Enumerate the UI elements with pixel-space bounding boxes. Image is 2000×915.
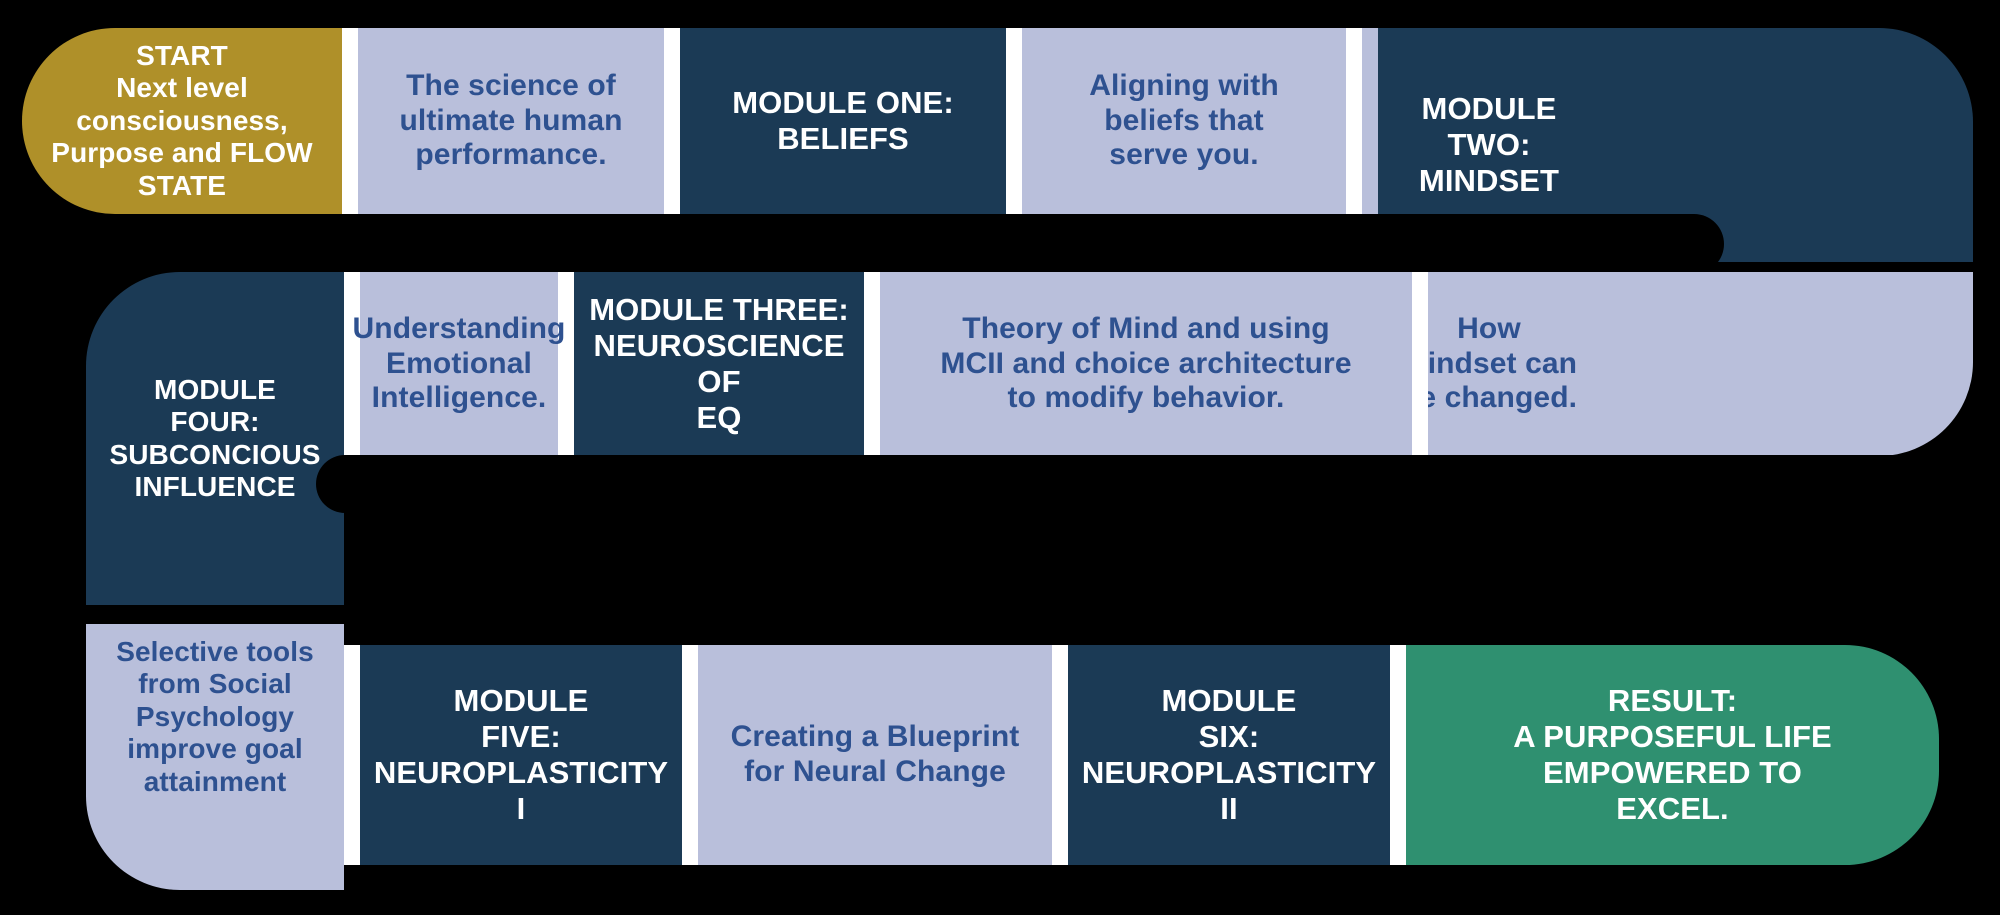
- segment-module-one[interactable]: MODULE ONE: BELIEFS: [680, 28, 1006, 214]
- separator: [1006, 28, 1022, 214]
- segment-module-five-label: MODULE FIVE: NEUROPLASTICITY I: [370, 683, 672, 827]
- segment-detail-7[interactable]: Selective tools from Social Psychology i…: [86, 624, 344, 890]
- segment-detail-2[interactable]: Aligning with beliefs that serve you.: [1022, 28, 1346, 214]
- separator: [1052, 645, 1068, 865]
- segment-detail-6-label: Theory of Mind and using MCII and choice…: [940, 312, 1351, 416]
- row-2: Understanding Emotional Intelligence. MO…: [344, 272, 1428, 456]
- segment-detail-1-label: The science of ultimate human performanc…: [399, 69, 622, 173]
- segment-detail-1[interactable]: The science of ultimate human performanc…: [358, 28, 664, 214]
- segment-module-four-label: MODULE FOUR: SUBCONCIOUS INFLUENCE: [109, 374, 320, 504]
- turn-notch-right-top: [0, 214, 1724, 274]
- segment-module-five[interactable]: MODULE FIVE: NEUROPLASTICITY I: [360, 645, 682, 865]
- row-3: MODULE FIVE: NEUROPLASTICITY I Creating …: [344, 645, 1939, 865]
- segment-module-three-label: MODULE THREE: NEUROSCIENCE OF EQ: [584, 292, 854, 436]
- segment-module-six[interactable]: MODULE SIX: NEUROPLASTICITY II: [1068, 645, 1390, 865]
- separator: [1346, 28, 1362, 214]
- separator: [342, 28, 358, 214]
- segment-detail-7-label: Selective tools from Social Psychology i…: [116, 636, 314, 798]
- segment-module-four[interactable]: MODULE FOUR: SUBCONCIOUS INFLUENCE: [86, 272, 344, 605]
- turn-notch-left: [316, 455, 2000, 513]
- segment-detail-8[interactable]: Creating a Blueprint for Neural Change: [698, 645, 1052, 865]
- separator: [1412, 272, 1428, 456]
- separator: [682, 645, 698, 865]
- separator: [344, 645, 360, 865]
- segment-detail-2-label: Aligning with beliefs that serve you.: [1089, 69, 1279, 173]
- segment-detail-8-label: Creating a Blueprint for Neural Change: [731, 720, 1020, 790]
- module-four-text-box: MODULE FOUR: SUBCONCIOUS INFLUENCE: [86, 319, 344, 559]
- detail-7-text-box: Selective tools from Social Psychology i…: [86, 624, 344, 810]
- segment-module-one-label: MODULE ONE: BELIEFS: [732, 85, 954, 157]
- separator: [864, 272, 880, 456]
- module-two-text-box: MODULE TWO: MINDSET: [1378, 52, 1600, 238]
- segment-result-label: RESULT: A PURPOSEFUL LIFE EMPOWERED TO E…: [1513, 683, 1832, 827]
- segment-detail-5-label: Understanding Emotional Intelligence.: [353, 312, 566, 416]
- segment-detail-4[interactable]: How mindset can be changed.: [1378, 272, 1973, 456]
- segment-module-six-label: MODULE SIX: NEUROPLASTICITY II: [1078, 683, 1380, 827]
- segment-start-label: START Next level consciousness, Purpose …: [51, 40, 312, 202]
- segment-detail-6[interactable]: Theory of Mind and using MCII and choice…: [880, 272, 1412, 456]
- segment-detail-5[interactable]: Understanding Emotional Intelligence.: [360, 272, 558, 456]
- segment-module-two-label: MODULE TWO: MINDSET: [1419, 91, 1559, 199]
- separator: [664, 28, 680, 214]
- roadmap-diagram: START Next level consciousness, Purpose …: [0, 0, 2000, 915]
- segment-module-three[interactable]: MODULE THREE: NEUROSCIENCE OF EQ: [574, 272, 864, 456]
- segment-result[interactable]: RESULT: A PURPOSEFUL LIFE EMPOWERED TO E…: [1406, 645, 1939, 865]
- separator: [1390, 645, 1406, 865]
- segment-start[interactable]: START Next level consciousness, Purpose …: [22, 28, 342, 214]
